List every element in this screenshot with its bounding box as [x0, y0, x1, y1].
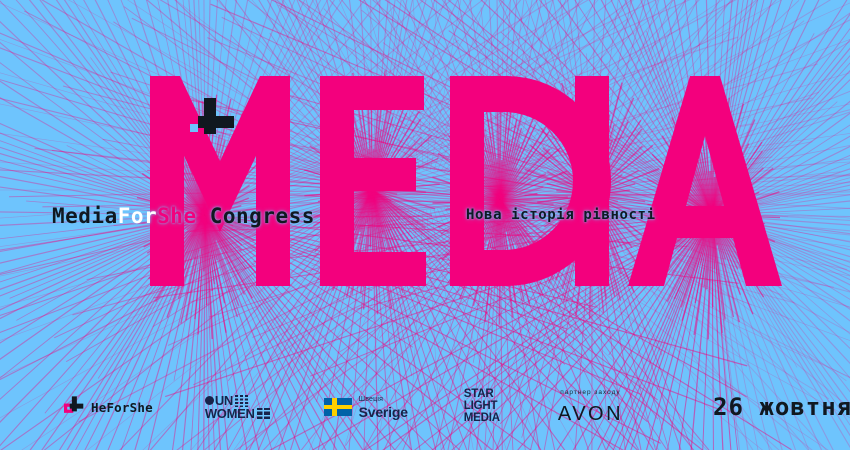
un-globe-icon [205, 396, 214, 405]
logo-un-women-line2: WOMEN [205, 407, 255, 420]
event-date: 26 жовтня [713, 393, 850, 421]
un-women-grid-small-icon [257, 408, 270, 419]
page-title: MediaForShe Congress [52, 204, 315, 228]
heforshe-plus-icon [64, 395, 84, 419]
logo-sweden-line1: Швеція [359, 396, 408, 403]
swedish-flag-icon [324, 398, 352, 416]
headline-congress: Congress [197, 204, 315, 228]
un-women-grid-icon [235, 395, 250, 407]
headline-for: For [118, 204, 157, 228]
headline-she: She [157, 204, 196, 228]
logo-heforshe-label: HeForShe [91, 400, 153, 415]
logo-avon-pretitle: партнер заходу [560, 390, 621, 397]
logo-slm-line3: MEDIA [464, 413, 500, 425]
partner-logo-strip: HeForShe UN WOMEN Швеція Sverige [0, 364, 850, 450]
logo-un-women[interactable]: UN WOMEN [205, 394, 270, 420]
logo-starlightmedia[interactable]: STAR LIGHT MEDIA [464, 389, 500, 424]
event-banner: MediaForShe Congress Нова історія рівнос… [0, 0, 850, 450]
tagline: Нова історія рівності [466, 207, 656, 223]
logo-avon-label: AVON [558, 404, 623, 424]
logo-sweden[interactable]: Швеція Sverige [324, 396, 408, 419]
headline-media: Media [52, 204, 118, 228]
logo-heforshe[interactable]: HeForShe [64, 395, 153, 419]
heforshe-plus-icon [180, 92, 236, 146]
logo-sweden-line2: Sverige [359, 405, 408, 419]
logo-avon[interactable]: партнер заходу AVON [558, 390, 623, 424]
